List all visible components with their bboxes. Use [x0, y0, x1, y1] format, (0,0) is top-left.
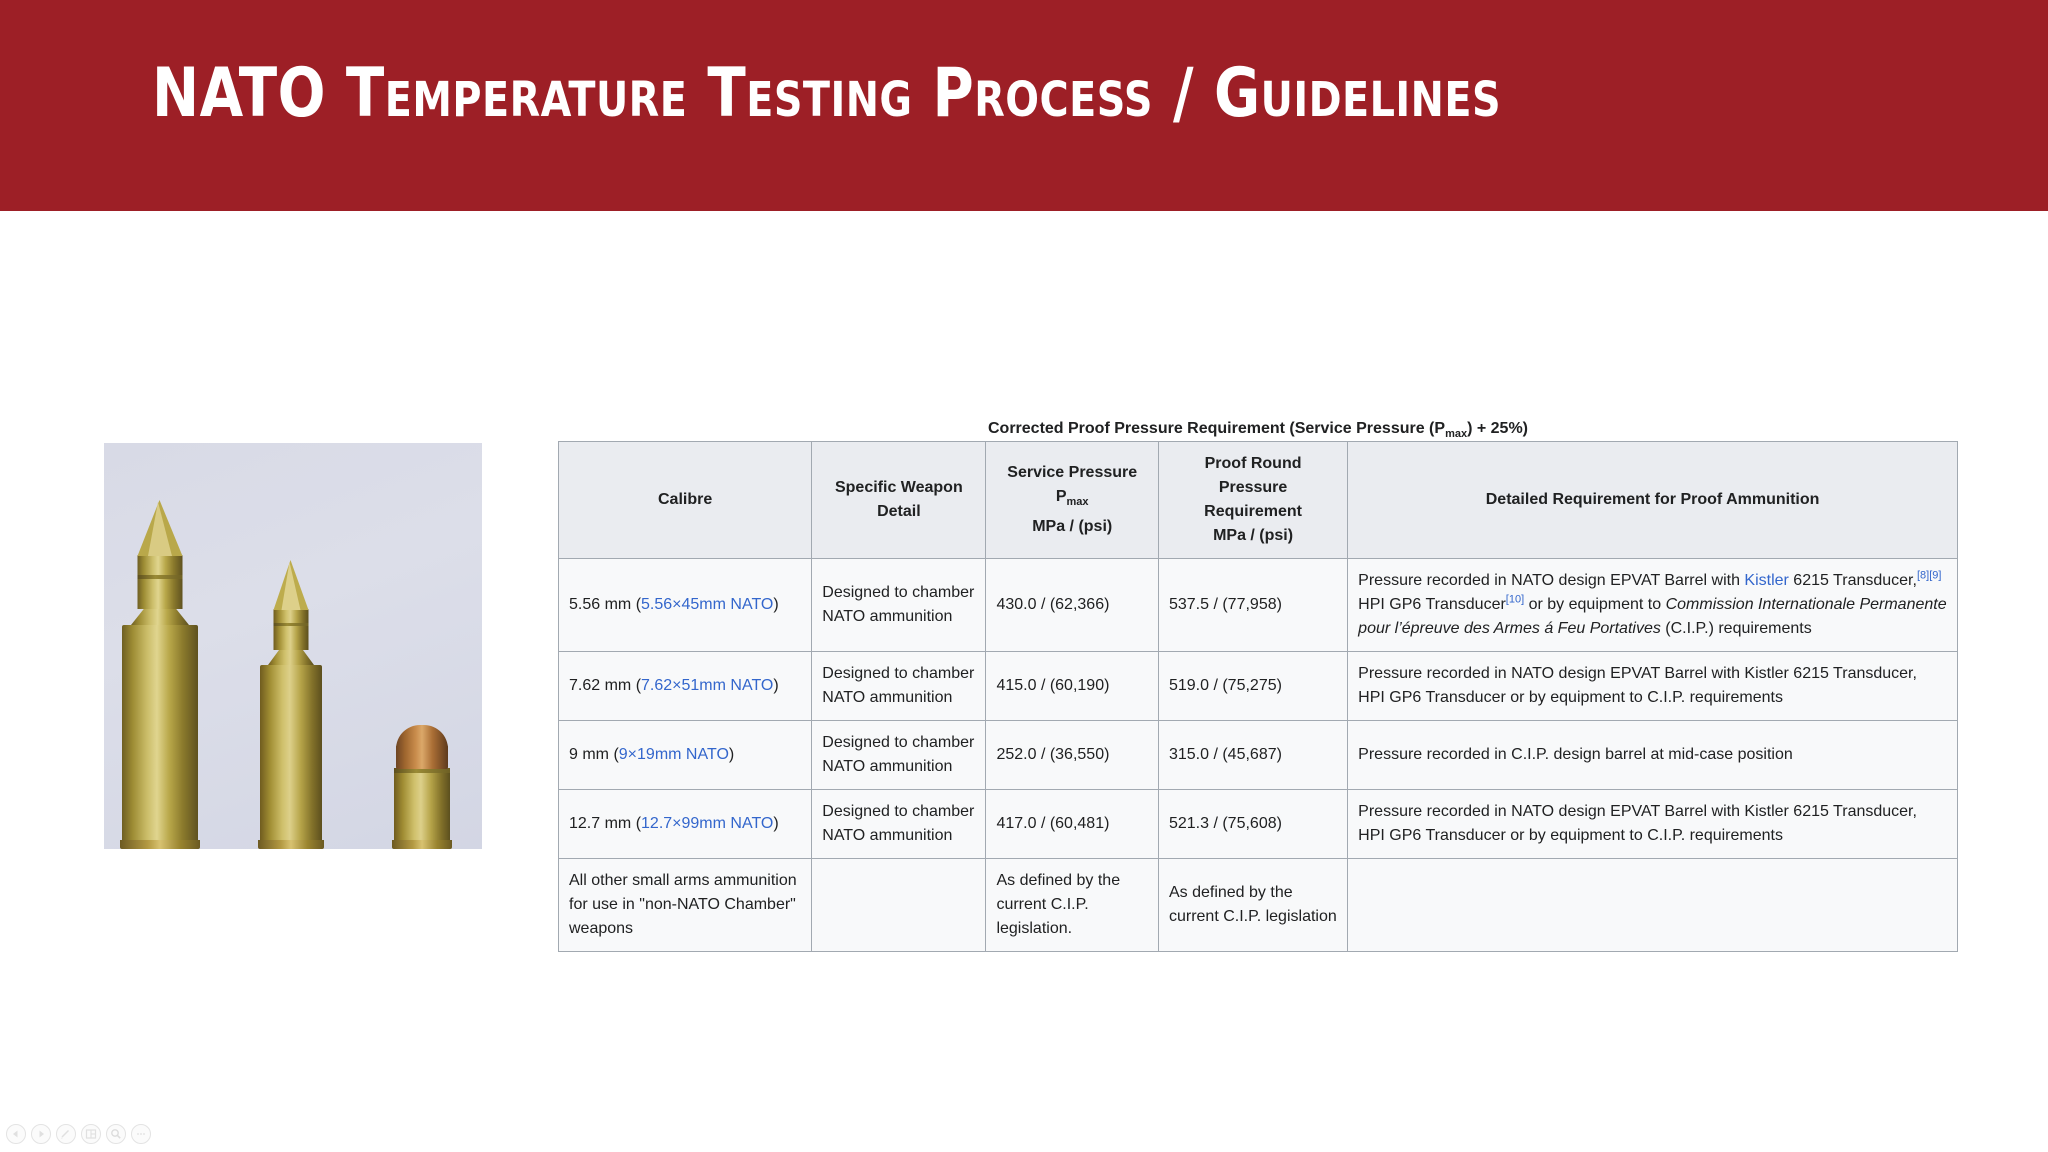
col-header-proof-units: MPa / (psi)	[1169, 524, 1337, 548]
table-body: 5.56 mm (5.56×45mm NATO)Designed to cham…	[559, 559, 1958, 952]
cell-proof-pressure: 537.5 / (77,958)	[1158, 559, 1347, 652]
detail-text: (C.I.P.) requirements	[1661, 620, 1812, 637]
cell-weapon-detail	[812, 859, 986, 952]
caption-sub: max	[1445, 428, 1467, 440]
cell-detailed-requirement: Pressure recorded in NATO design EPVAT B…	[1348, 790, 1958, 859]
cell-calibre: All other small arms ammunition for use …	[559, 859, 812, 952]
citation-ref[interactable]: [9]	[1929, 570, 1941, 582]
cell-detailed-requirement: Pressure recorded in NATO design EPVAT B…	[1348, 652, 1958, 721]
calibre-close-paren: )	[773, 815, 778, 832]
previous-slide-icon	[11, 1129, 21, 1139]
cell-calibre: 9 mm (9×19mm NATO)	[559, 721, 812, 790]
pen-icon	[60, 1128, 72, 1140]
detail-text: Pressure recorded in NATO design EPVAT B…	[1358, 665, 1917, 706]
col-header-service-line1: Service Pressure	[996, 461, 1148, 485]
more-options-icon	[135, 1128, 147, 1140]
col-header-proof-line1: Proof Round Pressure	[1169, 452, 1337, 500]
cell-weapon-detail: Designed to chamber NATO ammunition	[812, 559, 986, 652]
cell-detailed-requirement	[1348, 859, 1958, 952]
calibre-close-paren: )	[773, 677, 778, 694]
previous-slide-button[interactable]	[6, 1124, 26, 1144]
zoom-icon	[110, 1128, 122, 1140]
table-header-row: Calibre Specific Weapon Detail Service P…	[559, 442, 1958, 559]
title-banner: NATO Temperature Testing Process / Guide…	[0, 0, 2048, 211]
cell-proof-pressure: 519.0 / (75,275)	[1158, 652, 1347, 721]
calibre-link[interactable]: 5.56×45mm NATO	[641, 596, 773, 613]
cell-calibre: 12.7 mm (12.7×99mm NATO)	[559, 790, 812, 859]
table-head: Calibre Specific Weapon Detail Service P…	[559, 442, 1958, 559]
proof-pressure-table: Calibre Specific Weapon Detail Service P…	[558, 441, 1958, 952]
col-header-service-pressure: Service Pressure Pmax MPa / (psi)	[986, 442, 1159, 559]
col-header-weapon-line2: Detail	[822, 500, 975, 524]
detail-text: Pressure recorded in NATO design EPVAT B…	[1358, 803, 1917, 844]
pmax-p: P	[1056, 488, 1067, 505]
col-header-calibre: Calibre	[559, 442, 812, 559]
citation-ref[interactable]: [8]	[1917, 570, 1929, 582]
calibre-text: 7.62 mm (	[569, 677, 641, 694]
cell-calibre: 7.62 mm (7.62×51mm NATO)	[559, 652, 812, 721]
table-row: All other small arms ammunition for use …	[559, 859, 1958, 952]
caption-tail: ) + 25%)	[1467, 420, 1528, 437]
col-header-service-pmax: Pmax	[996, 485, 1148, 514]
detail-text: or by equipment to	[1524, 596, 1665, 613]
cartridge-556	[260, 573, 322, 849]
calibre-text: 9 mm (	[569, 746, 619, 763]
table-row: 9 mm (9×19mm NATO)Designed to chamber NA…	[559, 721, 1958, 790]
cell-proof-pressure: 315.0 / (45,687)	[1158, 721, 1347, 790]
cell-calibre: 5.56 mm (5.56×45mm NATO)	[559, 559, 812, 652]
col-header-weapon-line1: Specific Weapon	[822, 476, 975, 500]
citation-ref[interactable]: [10]	[1506, 594, 1524, 606]
calibre-link[interactable]: 9×19mm NATO	[619, 746, 729, 763]
pen-button[interactable]	[56, 1124, 76, 1144]
cell-proof-pressure: As defined by the current C.I.P. legisla…	[1158, 859, 1347, 952]
cell-weapon-detail: Designed to chamber NATO ammunition	[812, 790, 986, 859]
cartridge-762	[122, 504, 198, 849]
grid-view-icon	[85, 1128, 97, 1140]
calibre-link[interactable]: 7.62×51mm NATO	[641, 677, 773, 694]
calibre-text: 12.7 mm (	[569, 815, 641, 832]
calibre-close-paren: )	[773, 596, 778, 613]
calibre-link[interactable]: 12.7×99mm NATO	[641, 815, 773, 832]
col-header-proof-line2: Requirement	[1169, 500, 1337, 524]
calibre-text: All other small arms ammunition for use …	[569, 872, 797, 937]
table-row: 7.62 mm (7.62×51mm NATO)Designed to cham…	[559, 652, 1958, 721]
col-header-proof-round: Proof Round Pressure Requirement MPa / (…	[1158, 442, 1347, 559]
cell-service-pressure: 415.0 / (60,190)	[986, 652, 1159, 721]
cell-service-pressure: As defined by the current C.I.P. legisla…	[986, 859, 1159, 952]
cell-detailed-requirement: Pressure recorded in NATO design EPVAT B…	[1348, 559, 1958, 652]
cell-weapon-detail: Designed to chamber NATO ammunition	[812, 652, 986, 721]
caption-lead: Corrected Proof Pressure Requirement (Se…	[988, 420, 1445, 437]
detail-text: 6215 Transducer,	[1789, 572, 1917, 589]
more-options-button[interactable]	[131, 1124, 151, 1144]
cell-service-pressure: 430.0 / (62,366)	[986, 559, 1159, 652]
table-row: 12.7 mm (12.7×99mm NATO)Designed to cham…	[559, 790, 1958, 859]
cell-weapon-detail: Designed to chamber NATO ammunition	[812, 721, 986, 790]
zoom-button[interactable]	[106, 1124, 126, 1144]
cell-detailed-requirement: Pressure recorded in C.I.P. design barre…	[1348, 721, 1958, 790]
grid-view-button[interactable]	[81, 1124, 101, 1144]
col-header-detailed-requirement: Detailed Requirement for Proof Ammunitio…	[1348, 442, 1958, 559]
next-slide-button[interactable]	[31, 1124, 51, 1144]
detail-text: HPI GP6 Transducer	[1358, 596, 1506, 613]
col-header-service-units: MPa / (psi)	[996, 515, 1148, 539]
cartridge-9mm	[394, 729, 450, 849]
presentation-toolbar[interactable]	[6, 1124, 151, 1144]
detail-link[interactable]: Kistler	[1744, 572, 1788, 589]
cell-proof-pressure: 521.3 / (75,608)	[1158, 790, 1347, 859]
col-header-weapon: Specific Weapon Detail	[812, 442, 986, 559]
nato-cartridges-photo	[104, 443, 482, 849]
detail-text: Pressure recorded in NATO design EPVAT B…	[1358, 572, 1744, 589]
cell-service-pressure: 417.0 / (60,481)	[986, 790, 1159, 859]
table-row: 5.56 mm (5.56×45mm NATO)Designed to cham…	[559, 559, 1958, 652]
cell-service-pressure: 252.0 / (36,550)	[986, 721, 1159, 790]
pmax-sub: max	[1067, 497, 1089, 509]
detail-text: Pressure recorded in C.I.P. design barre…	[1358, 746, 1793, 763]
next-slide-icon	[36, 1129, 46, 1139]
calibre-close-paren: )	[729, 746, 734, 763]
calibre-text: 5.56 mm (	[569, 596, 641, 613]
page-title: NATO Temperature Testing Process / Guide…	[152, 56, 1501, 132]
